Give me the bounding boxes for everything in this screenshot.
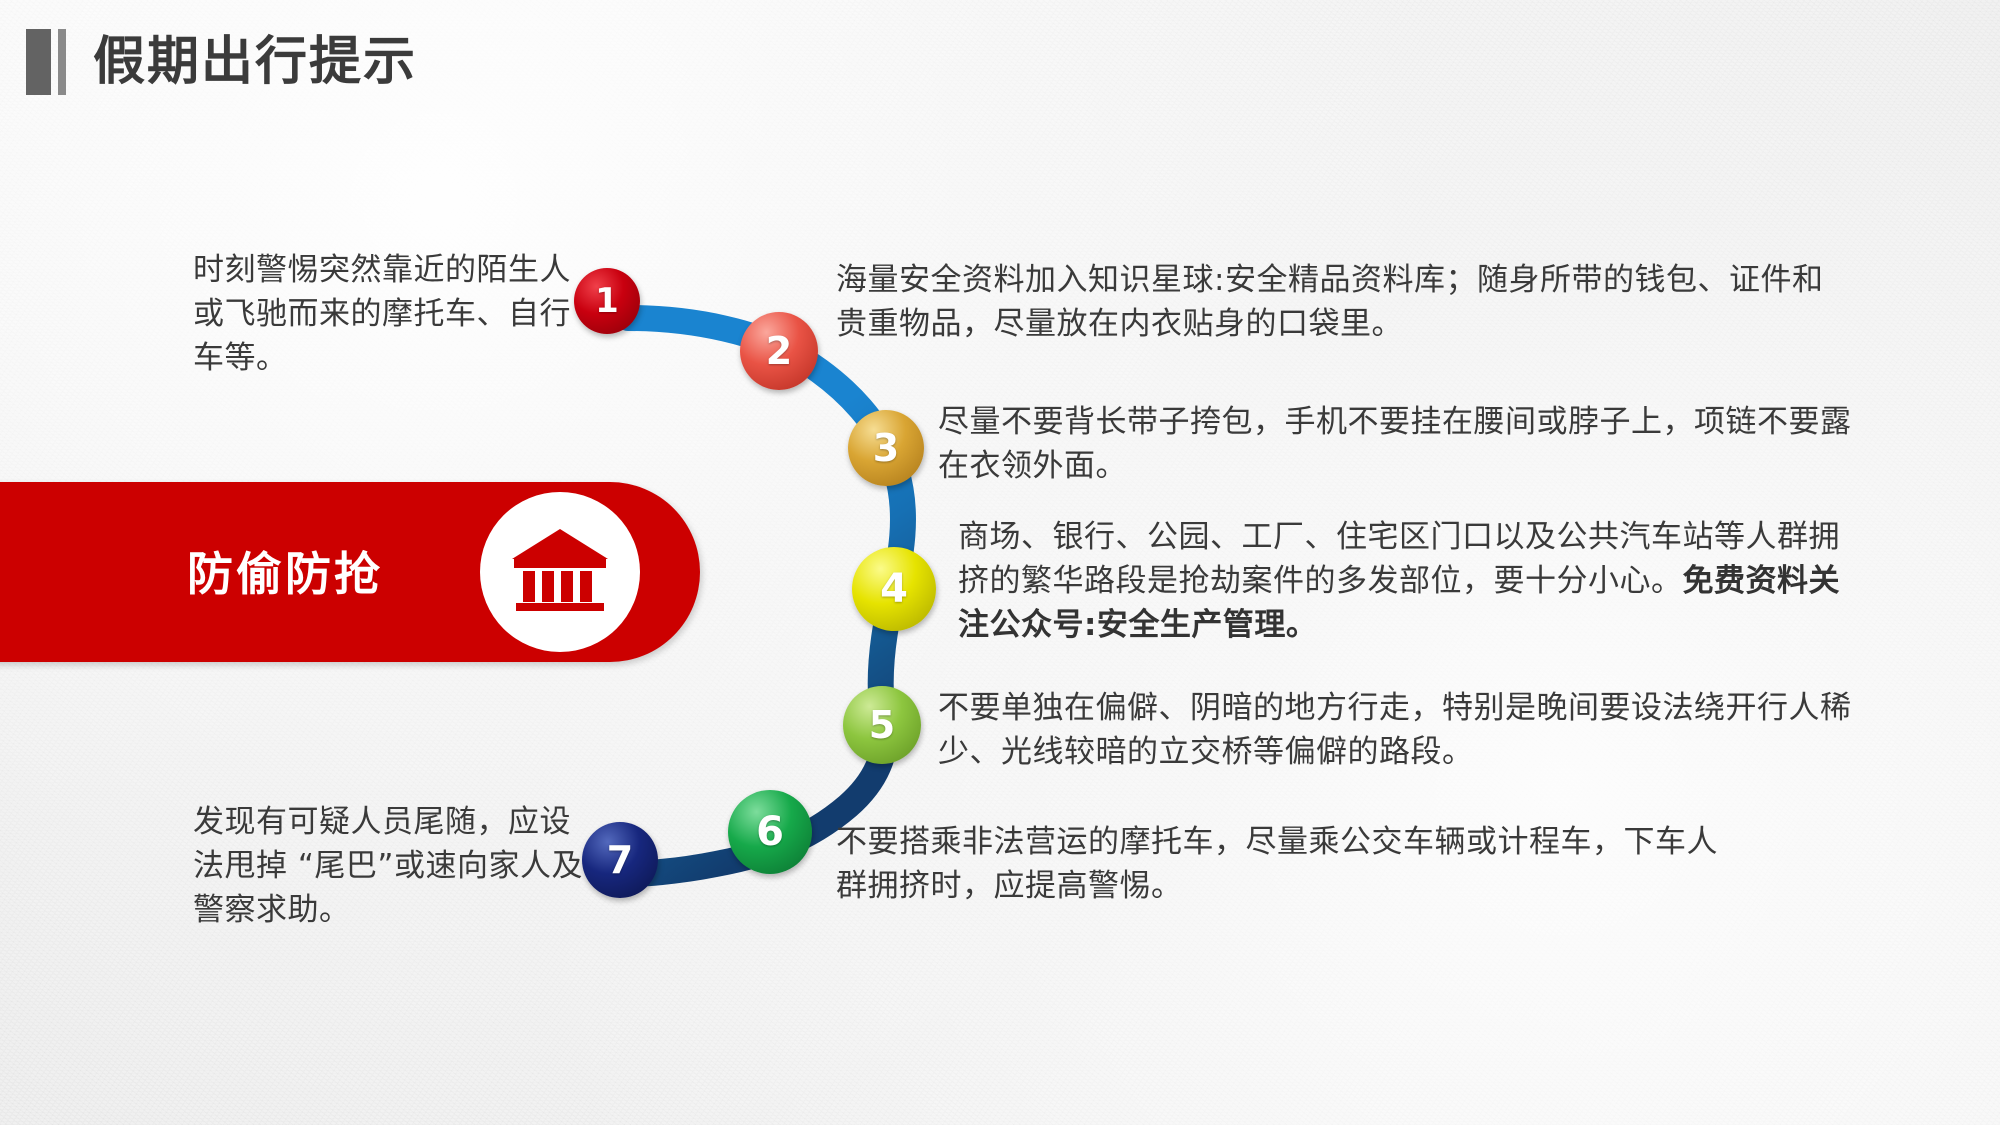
item-text-6: 不要搭乘非法营运的摩托车，尽量乘公交车辆或计程车，下车人群拥挤时，应提高警惕。 [836,820,1736,908]
banner-label: 防偷防抢 [120,538,450,604]
step-number-6: 6 [756,812,784,852]
item-text-2: 海量安全资料加入知识星球:安全精品资料库；随身所带的钱包、证件和贵重物品，尽量放… [836,258,1836,346]
step-node-3[interactable]: 3 [848,410,924,486]
bank-building-icon [508,525,612,619]
page-title: 假期出行提示 [26,27,417,97]
step-number-1: 1 [595,284,619,318]
item-text-5: 不要单独在偏僻、阴暗的地方行走，特别是晚间要设法绕开行人稀少、光线较暗的立交桥等… [938,686,1868,774]
step-number-4: 4 [880,569,908,609]
step-node-6[interactable]: 6 [728,790,812,874]
step-node-1[interactable]: 1 [574,268,640,334]
title-text: 假期出行提示 [93,29,417,95]
title-accent-gap [51,29,58,95]
step-node-2[interactable]: 2 [740,312,818,390]
title-accent-bar-thick [26,29,51,95]
step-number-3: 3 [873,429,899,467]
step-number-2: 2 [766,332,792,370]
step-node-7[interactable]: 7 [582,822,658,898]
step-node-4[interactable]: 4 [852,547,936,631]
item-text-4: 商场、银行、公园、工厂、住宅区门口以及公共汽车站等人群拥挤的繁华路段是抢劫案件的… [958,515,1858,647]
slide-canvas: 假期出行提示 防偷防抢 [0,0,2000,1125]
item-text-1: 时刻警惕突然靠近的陌生人或飞驰而来的摩托车、自行车等。 [193,248,573,380]
title-accent-bar-thin [58,29,66,95]
banner-icon-backdrop [480,492,640,652]
item-text-7: 发现有可疑人员尾随，应设法甩掉 “尾巴”或速向家人及警察求助。 [193,800,583,932]
category-banner: 防偷防抢 [0,482,700,662]
step-number-7: 7 [607,841,633,879]
step-number-5: 5 [869,706,895,744]
item-text-3: 尽量不要背长带子挎包，手机不要挂在腰间或脖子上，项链不要露在衣领外面。 [938,400,1868,488]
step-node-5[interactable]: 5 [843,686,921,764]
